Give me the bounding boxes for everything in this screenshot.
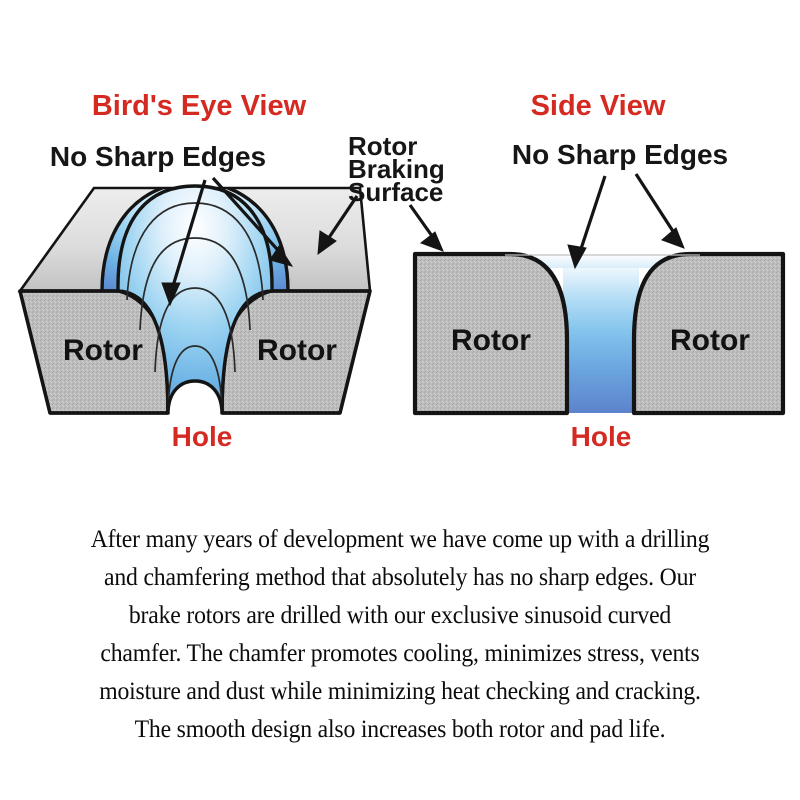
label-rotor-right-sideview: Rotor (670, 324, 750, 357)
side-view-group: Rotor Rotor (410, 174, 783, 413)
title-side-view: Side View (531, 90, 666, 122)
paragraph-line: chamfer. The chamfer promotes cooling, m… (37, 634, 762, 672)
label-hole-sideview: Hole (571, 421, 632, 452)
side-hole-gradient (563, 254, 639, 413)
callout-no-sharp-edges-right: No Sharp Edges (512, 139, 728, 170)
callout-rotor-braking-surface: Rotor Braking Surface (348, 131, 445, 207)
paragraph-line: The smooth design also increases both ro… (37, 710, 762, 748)
label-rotor-left-birdseye: Rotor (63, 334, 143, 367)
title-birds-eye-view: Bird's Eye View (92, 90, 307, 122)
birds-eye-view-group: Rotor Rotor (20, 178, 370, 414)
description-paragraph: After many years of development we have … (37, 520, 762, 748)
callout-braking-surface-line-3: Surface (348, 177, 443, 207)
paragraph-line: After many years of development we have … (37, 520, 762, 558)
paragraph-line: and chamfering method that absolutely ha… (37, 558, 762, 596)
label-rotor-right-birdseye: Rotor (257, 334, 337, 367)
description-paragraph-wrapper: After many years of development we have … (0, 520, 800, 748)
illustration-page: Rotor Rotor Ro (0, 0, 800, 800)
callout-no-sharp-edges-left: No Sharp Edges (50, 141, 266, 172)
label-rotor-left-sideview: Rotor (451, 324, 531, 357)
rotor-chamfer-diagram: Rotor Rotor Ro (0, 0, 800, 470)
label-hole-birdseye: Hole (172, 421, 233, 452)
paragraph-line: brake rotors are drilled with our exclus… (37, 596, 762, 634)
paragraph-line: moisture and dust while minimizing heat … (37, 672, 762, 710)
